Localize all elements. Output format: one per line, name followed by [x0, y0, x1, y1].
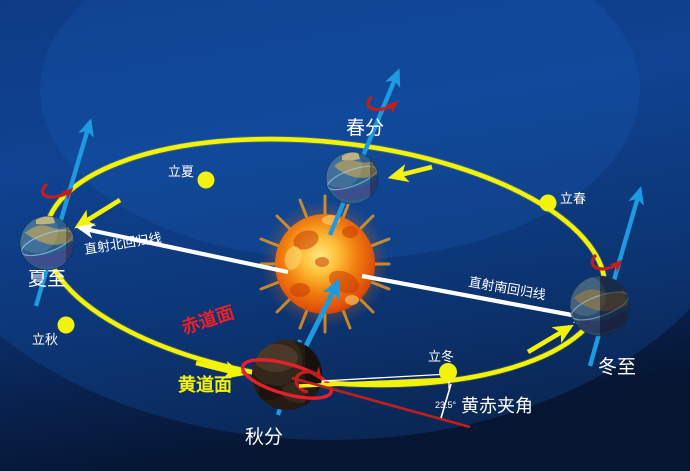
label-liqiu: 立秋 [32, 332, 58, 347]
label-xiazhi: 夏至 [28, 269, 66, 290]
node-dot-lidong [439, 363, 457, 381]
label-chunfen: 春分 [346, 117, 384, 139]
label-ecliptic-plane: 黄道面 [178, 374, 232, 395]
node-dot-lixia [198, 172, 215, 189]
label-qiufen: 秋分 [245, 426, 283, 448]
label-obliquity: 黄赤夹角 [461, 396, 533, 416]
solar-orbit-diagram: 春分 夏至 秋分 冬至 立夏 立秋 立春 立冬 直射北回归线 直射南回归线 赤道… [0, 0, 690, 471]
label-angle-value: 23.5° [435, 400, 457, 410]
label-lidong: 立冬 [428, 349, 454, 364]
label-lichun: 立春 [560, 191, 586, 206]
diagram-canvas: 春分 夏至 秋分 冬至 立夏 立秋 立春 立冬 直射北回归线 直射南回归线 赤道… [0, 0, 690, 471]
label-dongzhi: 冬至 [598, 356, 636, 378]
node-dot-liqiu [58, 317, 75, 334]
label-lixia: 立夏 [168, 164, 194, 179]
node-dot-lichun [540, 195, 557, 212]
